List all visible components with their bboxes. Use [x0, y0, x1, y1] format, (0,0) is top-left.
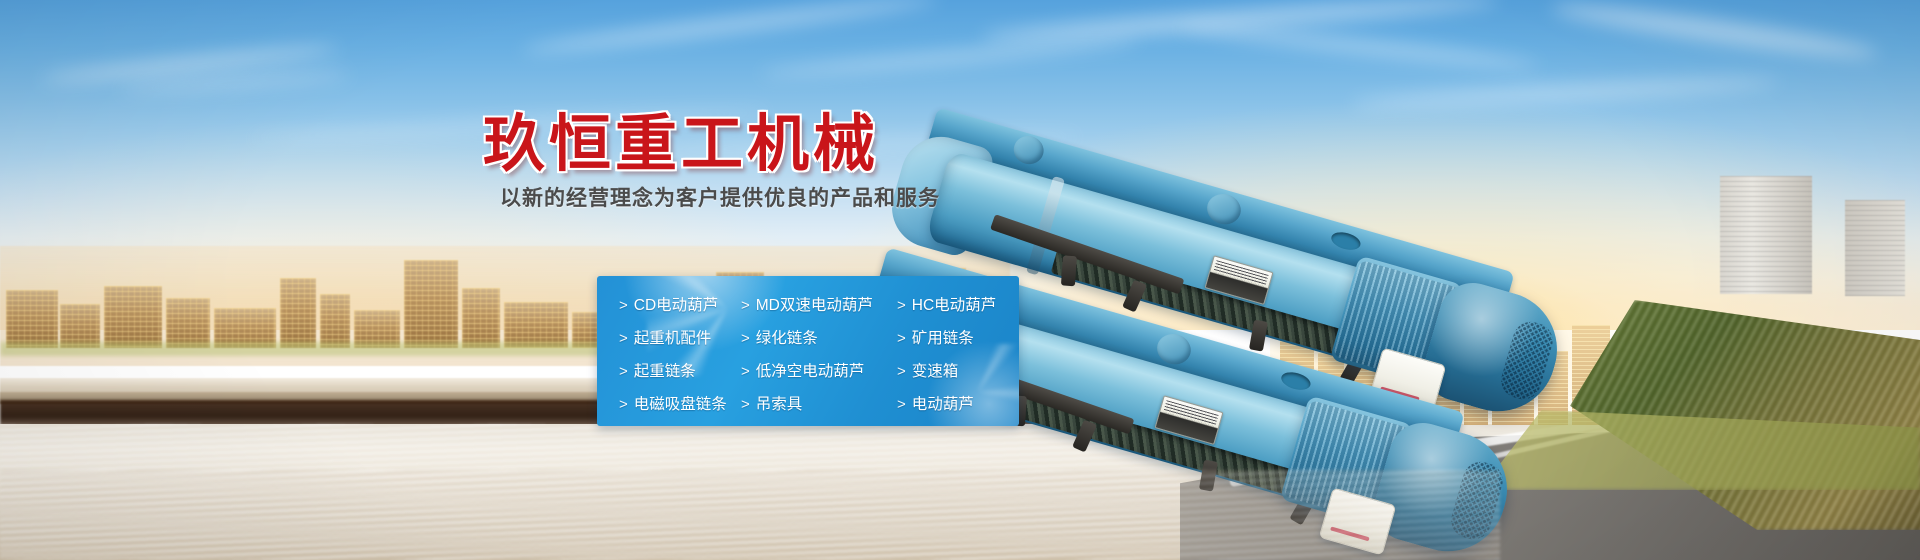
banner-headline: 玖恒重工机械: [483, 114, 879, 176]
product-link-label: 电磁吸盘链条: [634, 397, 727, 413]
chevron-right-icon: >: [619, 364, 628, 379]
product-links-grid: >CD电动葫芦>MD双速电动葫芦>HC电动葫芦>起重机配件>绿化链条>矿用链条>…: [597, 276, 1019, 426]
glass-tower: [1845, 200, 1905, 296]
chevron-right-icon: >: [897, 331, 906, 346]
product-link-label: 变速箱: [912, 364, 959, 380]
product-link[interactable]: >HC电动葫芦: [897, 298, 1019, 314]
product-link[interactable]: >吊索具: [741, 397, 897, 413]
motor-vent-grill: [1497, 318, 1557, 404]
product-link-label: HC电动葫芦: [912, 298, 996, 314]
product-link-label: 低净空电动葫芦: [756, 364, 865, 380]
product-link-label: 起重机配件: [634, 331, 712, 347]
motor-vent-grill: [1447, 458, 1507, 544]
chevron-right-icon: >: [619, 298, 628, 313]
product-link[interactable]: >电磁吸盘链条: [619, 397, 741, 413]
product-link-label: 绿化链条: [756, 331, 818, 347]
product-link[interactable]: >低净空电动葫芦: [741, 364, 897, 380]
product-link[interactable]: >电动葫芦: [897, 397, 1019, 413]
glass-tower: [1720, 176, 1812, 294]
chevron-right-icon: >: [741, 364, 750, 379]
chevron-right-icon: >: [897, 298, 906, 313]
product-link-label: 起重链条: [634, 364, 696, 380]
product-link[interactable]: >MD双速电动葫芦: [741, 298, 897, 314]
product-link[interactable]: >变速箱: [897, 364, 1019, 380]
product-link[interactable]: >矿用链条: [897, 331, 1019, 347]
chevron-right-icon: >: [741, 331, 750, 346]
banner-subheadline: 以新的经营理念为客户提供优良的产品和服务: [500, 182, 940, 212]
product-link[interactable]: >CD电动葫芦: [619, 298, 741, 314]
product-link-label: MD双速电动葫芦: [756, 298, 873, 314]
hero-banner: 玖恒重工机械 以新的经营理念为客户提供优良的产品和服务 >CD电动葫芦>MD双速…: [0, 0, 1920, 560]
product-link-label: CD电动葫芦: [634, 298, 718, 314]
chevron-right-icon: >: [897, 397, 906, 412]
chevron-right-icon: >: [741, 298, 750, 313]
product-link-label: 电动葫芦: [912, 397, 974, 413]
product-link[interactable]: >起重机配件: [619, 331, 741, 347]
product-link[interactable]: >起重链条: [619, 364, 741, 380]
chevron-right-icon: >: [619, 331, 628, 346]
chevron-right-icon: >: [619, 397, 628, 412]
product-link-label: 吊索具: [756, 397, 803, 413]
chevron-right-icon: >: [741, 397, 750, 412]
product-link[interactable]: >绿化链条: [741, 331, 897, 347]
product-links-panel: >CD电动葫芦>MD双速电动葫芦>HC电动葫芦>起重机配件>绿化链条>矿用链条>…: [597, 276, 1019, 426]
chevron-right-icon: >: [897, 364, 906, 379]
product-link-label: 矿用链条: [912, 331, 974, 347]
